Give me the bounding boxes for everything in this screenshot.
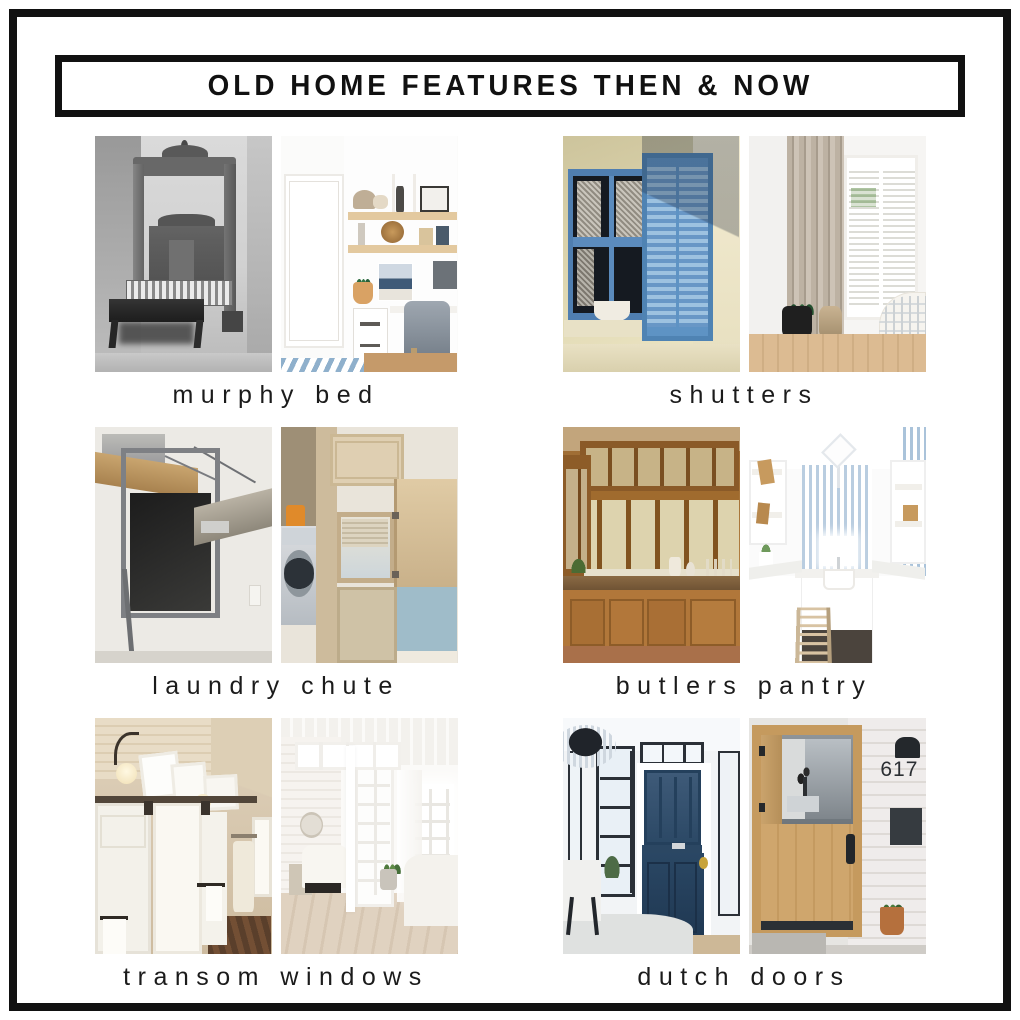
feature-label-shutters: shutters [670,383,819,408]
feature-butlers-pantry: butlers pantry [541,427,947,708]
feature-transom-windows: transom windows [73,718,479,999]
features-grid: murphy bed [47,136,973,1011]
photo-shutters-now [749,136,926,372]
feature-label-laundry-chute: laundry chute [152,674,400,699]
feature-laundry-chute: laundry chute [73,427,479,708]
poster-content: OLD HOME FEATURES THEN & NOW [9,9,1011,1011]
photo-dutch-doors-now: 617 [749,718,926,954]
poster-root: OLD HOME FEATURES THEN & NOW [0,0,1020,1020]
photo-laundry-chute-then [95,427,272,663]
photo-pair-dutch-doors: 617 [541,718,947,954]
photo-pair-murphy-bed [73,136,479,372]
photo-laundry-chute-now [281,427,458,663]
feature-label-butlers-pantry: butlers pantry [616,674,872,699]
photo-transom-windows-then [95,718,272,954]
photo-transom-windows-now [281,718,458,954]
photo-butlers-pantry-now [749,427,926,663]
photo-butlers-pantry-then [563,427,740,663]
photo-pair-transom-windows [73,718,479,954]
feature-label-dutch-doors: dutch doors [637,965,850,990]
photo-shutters-then [563,136,740,372]
feature-label-transom-windows: transom windows [123,965,429,990]
feature-dutch-doors: 617 dutch doors [541,718,947,999]
feature-shutters: shutters [541,136,947,417]
photo-murphy-bed-then [95,136,272,372]
page-title: OLD HOME FEATURES THEN & NOW [207,70,813,103]
photo-pair-shutters [541,136,947,372]
house-number: 617 [880,758,918,782]
photo-pair-butlers-pantry [541,427,947,663]
feature-label-murphy-bed: murphy bed [172,383,379,408]
photo-dutch-doors-then [563,718,740,954]
photo-pair-laundry-chute [73,427,479,663]
title-banner: OLD HOME FEATURES THEN & NOW [55,55,965,117]
photo-murphy-bed-now [281,136,458,372]
feature-murphy-bed: murphy bed [73,136,479,417]
